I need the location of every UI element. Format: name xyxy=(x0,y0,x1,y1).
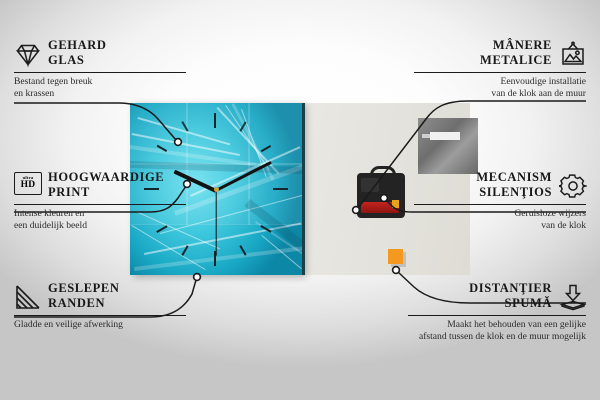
feature-desc-line2: afstand tussen de klok en de muur mogeli… xyxy=(408,331,586,343)
feature-desc-line1: Geruisloze wijzers xyxy=(414,208,586,220)
feature-desc-line1: Eenvoudige installatie xyxy=(414,76,586,88)
feature-divider xyxy=(414,204,586,205)
feature-divider xyxy=(14,315,186,316)
leader-endpoint-mechanism xyxy=(381,195,388,202)
feature-desc-line1: Gladde en veilige afwerking xyxy=(14,319,186,331)
gear-icon xyxy=(559,172,586,199)
feature-title-line1: MÂNERE xyxy=(480,38,552,53)
feature-divider xyxy=(408,315,586,316)
feature-title-line1: MECANISM xyxy=(476,170,552,185)
leader-endpoint-edges xyxy=(194,274,201,281)
feature-polished-edges: GESLEPEN RANDEN Gladde en veilige afwerk… xyxy=(14,281,186,331)
feature-title-line2: SILENŢIOS xyxy=(476,185,552,200)
feature-desc-line2: van de klok aan de muur xyxy=(414,88,586,100)
foam-spacer-icon xyxy=(559,283,586,310)
leader-endpoint-handles xyxy=(353,207,360,214)
feature-desc-line1: Intense kleuren en xyxy=(14,208,186,220)
feature-high-quality-print: ultra HD HOOGWAARDIGE PRINT Intense kleu… xyxy=(14,170,186,232)
feature-title-line1: GEHARD xyxy=(48,38,106,53)
feature-desc-line2: een duidelijk beeld xyxy=(14,220,186,232)
picture-frame-icon xyxy=(559,40,586,67)
feature-desc-line1: Bestand tegen breuk xyxy=(14,76,186,88)
feature-metal-handles: MÂNERE METALICE Eenvoudige installatie v… xyxy=(414,38,586,100)
feature-title-line1: HOOGWAARDIGE xyxy=(48,170,164,185)
leader-endpoint-tempered-glass xyxy=(175,139,182,146)
feature-title-line1: DISTANŢIER xyxy=(469,281,552,296)
feature-title-line2: METALICE xyxy=(480,53,552,68)
feature-desc-line1: Maakt het behouden van een gelijke xyxy=(408,319,586,331)
ultra-hd-large-text: HD xyxy=(21,181,36,191)
feature-title-line2: RANDEN xyxy=(48,296,120,311)
feature-divider xyxy=(14,72,186,73)
feature-title-line2: SPUMĂ xyxy=(469,296,552,311)
diamond-icon xyxy=(14,40,41,67)
feature-title-line2: PRINT xyxy=(48,185,164,200)
feature-title-line2: GLAS xyxy=(48,53,106,68)
feature-divider xyxy=(414,72,586,73)
feature-divider xyxy=(14,204,186,205)
feature-foam-spacer: DISTANŢIER SPUMĂ Maakt het behouden van … xyxy=(408,281,586,343)
feature-desc-line2: en krassen xyxy=(14,88,186,100)
leader-endpoint-spacer xyxy=(393,267,400,274)
feature-tempered-glass: GEHARD GLAS Bestand tegen breuk en krass… xyxy=(14,38,186,100)
ultra-hd-icon: ultra HD xyxy=(14,172,41,199)
infographic-canvas: GEHARD GLAS Bestand tegen breuk en krass… xyxy=(0,0,600,400)
feature-desc-line2: van de klok xyxy=(414,220,586,232)
feature-silent-mechanism: MECANISM SILENŢIOS Geruisloze wijzers va… xyxy=(414,170,586,232)
feature-title-line1: GESLEPEN xyxy=(48,281,120,296)
beveled-edges-icon xyxy=(14,283,41,310)
